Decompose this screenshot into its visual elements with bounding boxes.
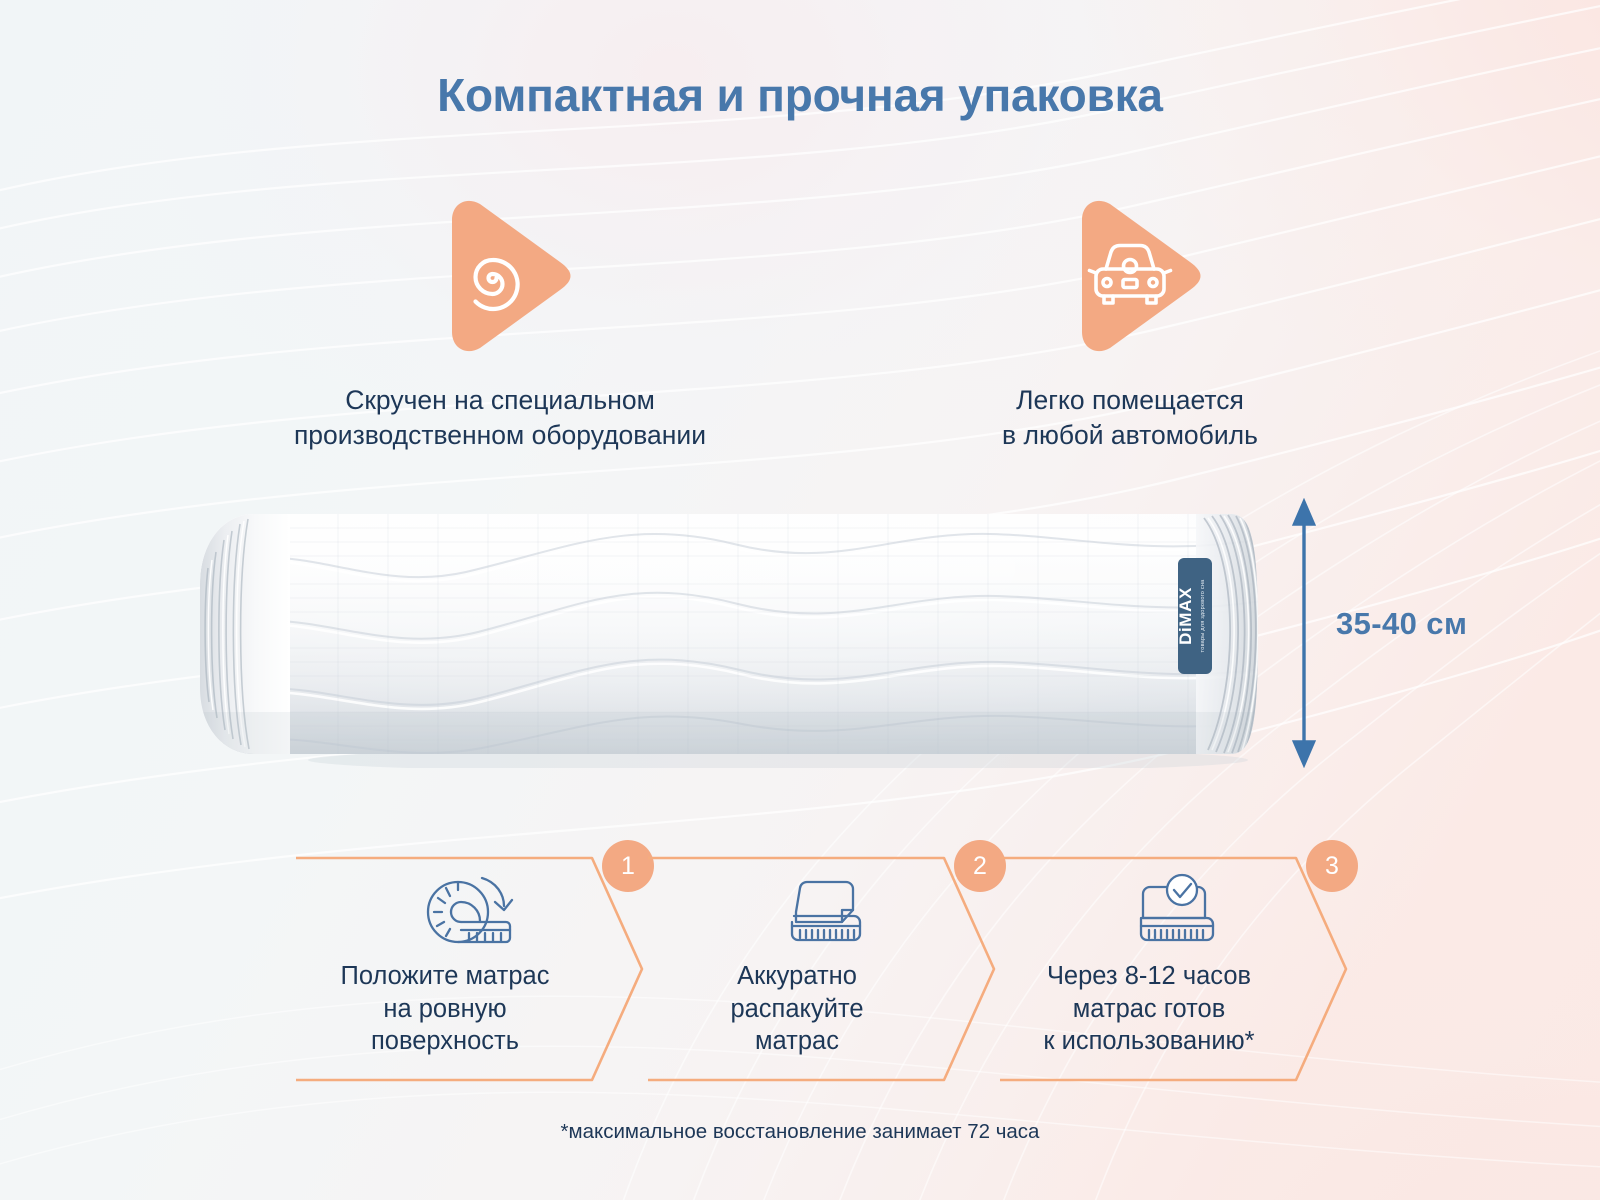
- mattress-check-icon: [1000, 872, 1352, 952]
- feature-caption: Легко помещается в любой автомобиль: [830, 383, 1430, 453]
- step-text: Через 8-12 часов матрас готов к использо…: [982, 960, 1316, 1058]
- spiral-roll-icon: [160, 196, 840, 361]
- feature-item-rolled: Скручен на специальном производственном …: [160, 196, 840, 453]
- page-title: Компактная и прочная упаковка: [0, 68, 1600, 122]
- feature-caption: Скручен на специальном производственном …: [160, 383, 840, 453]
- unpack-mattress-icon: [648, 872, 1000, 952]
- svg-text:DiMAX: DiMAX: [1176, 587, 1195, 645]
- infographic-canvas: Компактная и прочная упаковка Скручен на…: [0, 0, 1600, 1200]
- rolled-mattress: DiMAX товары для здорового сна: [178, 498, 1278, 768]
- step-text: Положите матрас на ровную поверхность: [288, 960, 602, 1058]
- car-icon: [830, 196, 1430, 361]
- footnote: *максимальное восстановление занимает 72…: [0, 1120, 1600, 1144]
- rolled-mattress-arrow-icon: [296, 872, 648, 952]
- step-item-1: 1: [296, 844, 648, 1094]
- feature-item-car: Легко помещается в любой автомобиль: [830, 196, 1430, 453]
- step-item-3: 3 Через 8-12 часов матрас готов к исполь…: [1000, 844, 1352, 1094]
- brand-label-dimax: DiMAX товары для здорового сна: [1176, 558, 1212, 674]
- dimension-label: 35-40 см: [1336, 606, 1467, 642]
- dimension-indicator: 35-40 см: [1284, 498, 1584, 768]
- step-text: Аккуратно распакуйте матрас: [640, 960, 954, 1058]
- step-item-2: 2 Аккуратно распакуйте матрас: [648, 844, 1000, 1094]
- svg-text:товары для здорового сна: товары для здорового сна: [1200, 579, 1206, 653]
- steps-section: 1: [296, 844, 1306, 1094]
